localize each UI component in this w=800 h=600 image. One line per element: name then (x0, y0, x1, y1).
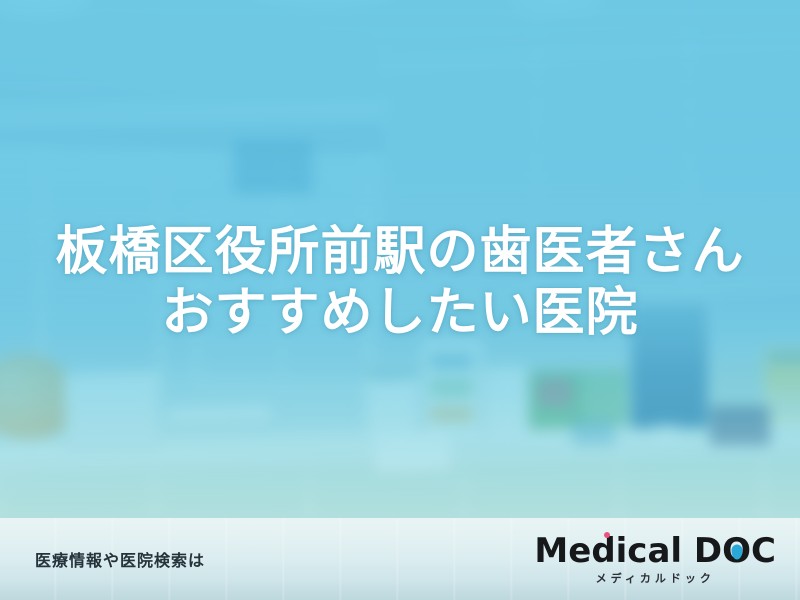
brand-wordmark: Medical DOC (534, 534, 776, 568)
footer-bar: 医療情報や医院検索は メディカルドック Medical DOC メディカルドック (0, 518, 800, 600)
brand-subtitle: メディカルドック (534, 573, 776, 584)
footer-lead-text: 医療情報や医院検索は (35, 547, 205, 571)
brand-name-c: C (751, 531, 776, 571)
brand-name-o: O (722, 534, 751, 568)
headline-line-2: おすすめしたい医院 (0, 283, 800, 344)
hero-banner: 板橋区役所前駅の歯医者さん おすすめしたい医院 医療情報や医院検索は メディカル… (0, 0, 800, 600)
brand-i-dot-icon (604, 532, 610, 538)
brand-name-d: D (694, 531, 722, 571)
hero-headline: 板橋区役所前駅の歯医者さん おすすめしたい医院 (0, 222, 800, 344)
brand-logo[interactable]: Medical DOC メディカルドック (534, 534, 776, 584)
headline-line-1: 板橋区役所前駅の歯医者さん (0, 222, 800, 283)
